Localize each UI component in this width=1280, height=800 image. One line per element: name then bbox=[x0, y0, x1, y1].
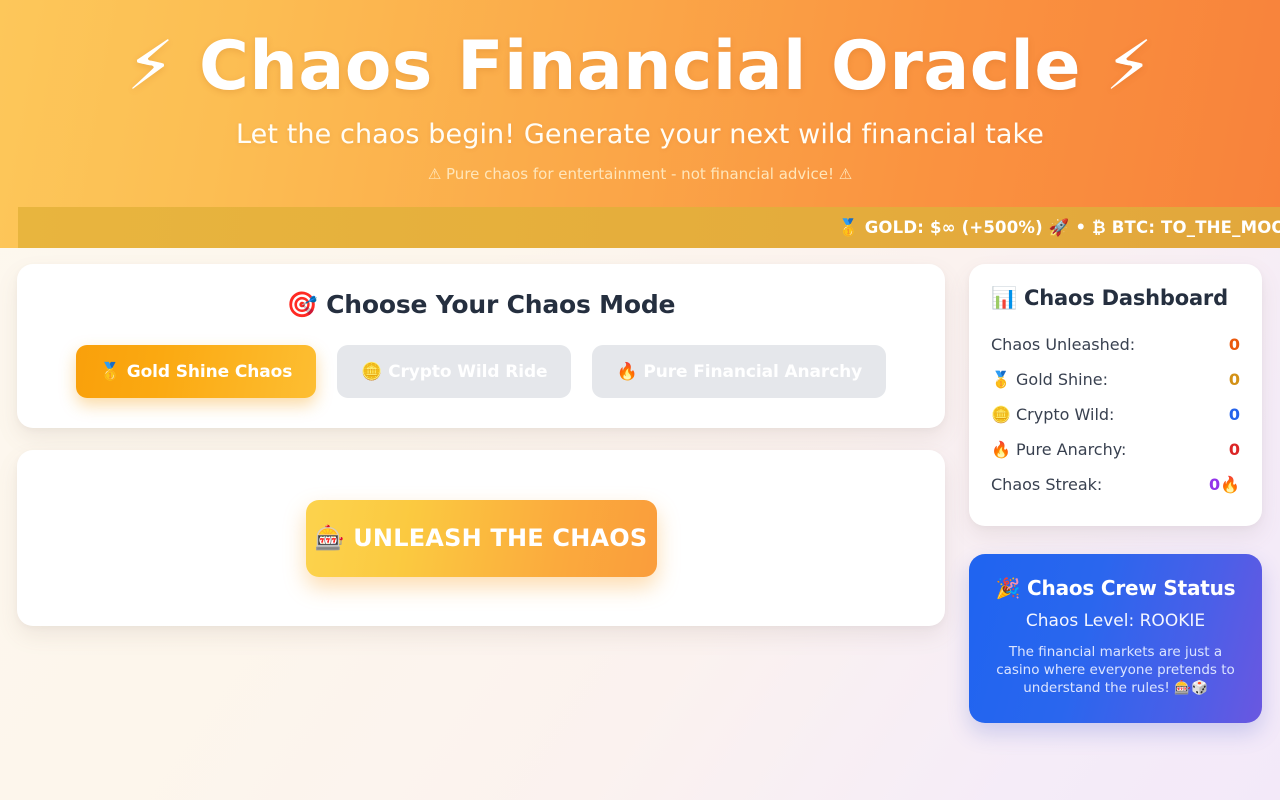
crew-chaos-level: Chaos Level: ROOKIE bbox=[989, 611, 1242, 631]
mode-button-crypto-wild[interactable]: 🪙 Crypto Wild Ride bbox=[337, 345, 571, 398]
stat-row-gold-shine: 🥇 Gold Shine: 0 bbox=[991, 362, 1240, 397]
stat-value: 0🔥 bbox=[1209, 475, 1240, 494]
ticker-text: 🥇 GOLD: $∞ (+500%) 🚀 • ₿ BTC: TO_THE_MOO… bbox=[838, 218, 1280, 238]
stat-value: 0 bbox=[1229, 440, 1240, 459]
crew-status-title: 🎉 Chaos Crew Status bbox=[989, 576, 1242, 600]
stat-row-chaos-unleashed: Chaos Unleashed: 0 bbox=[991, 327, 1240, 362]
stat-label: Chaos Unleashed: bbox=[991, 335, 1135, 354]
crew-quote-text: The financial markets are just a casino … bbox=[989, 644, 1242, 697]
page-body: 🎯 Choose Your Chaos Mode 🥇 Gold Shine Ch… bbox=[0, 248, 1280, 800]
stat-label: 🔥 Pure Anarchy: bbox=[991, 440, 1126, 459]
dashboard-title: 📊 Chaos Dashboard bbox=[991, 286, 1240, 311]
chaos-mode-card: 🎯 Choose Your Chaos Mode 🥇 Gold Shine Ch… bbox=[17, 264, 945, 428]
stat-value: 0 bbox=[1229, 405, 1240, 424]
sidebar-column: 📊 Chaos Dashboard Chaos Unleashed: 0 🥇 G… bbox=[969, 264, 1262, 800]
mode-button-pure-anarchy[interactable]: 🔥 Pure Financial Anarchy bbox=[592, 345, 886, 398]
chaos-dashboard-card: 📊 Chaos Dashboard Chaos Unleashed: 0 🥇 G… bbox=[969, 264, 1262, 526]
stat-label: 🪙 Crypto Wild: bbox=[991, 405, 1114, 424]
stat-value: 0 bbox=[1229, 335, 1240, 354]
mode-section-heading: 🎯 Choose Your Chaos Mode bbox=[41, 290, 921, 320]
header-content: ⚡ Chaos Financial Oracle ⚡ Let the chaos… bbox=[0, 0, 1280, 183]
stat-label: 🥇 Gold Shine: bbox=[991, 370, 1108, 389]
stat-row-crypto-wild: 🪙 Crypto Wild: 0 bbox=[991, 397, 1240, 432]
mode-button-gold-shine[interactable]: 🥇 Gold Shine Chaos bbox=[76, 345, 316, 398]
stat-label: Chaos Streak: bbox=[991, 475, 1102, 494]
unleash-the-chaos-button[interactable]: 🎰 UNLEASH THE CHAOS bbox=[306, 500, 657, 577]
mode-button-group: 🥇 Gold Shine Chaos 🪙 Crypto Wild Ride 🔥 … bbox=[41, 345, 921, 398]
page-title: ⚡ Chaos Financial Oracle ⚡ bbox=[0, 30, 1280, 103]
stat-value: 0 bbox=[1229, 370, 1240, 389]
market-ticker-bar: 🥇 GOLD: $∞ (+500%) 🚀 • ₿ BTC: TO_THE_MOO… bbox=[18, 207, 1280, 248]
stat-row-pure-anarchy: 🔥 Pure Anarchy: 0 bbox=[991, 432, 1240, 467]
stat-row-chaos-streak: Chaos Streak: 0🔥 bbox=[991, 467, 1240, 502]
unleash-card: 🎰 UNLEASH THE CHAOS bbox=[17, 450, 945, 626]
chaos-crew-status-card: 🎉 Chaos Crew Status Chaos Level: ROOKIE … bbox=[969, 554, 1262, 723]
disclaimer-text: ⚠ Pure chaos for entertainment - not fin… bbox=[0, 165, 1280, 183]
main-column: 🎯 Choose Your Chaos Mode 🥇 Gold Shine Ch… bbox=[17, 264, 945, 800]
page-subtitle: Let the chaos begin! Generate your next … bbox=[0, 119, 1280, 151]
app-header: ⚡ Chaos Financial Oracle ⚡ Let the chaos… bbox=[0, 0, 1280, 248]
